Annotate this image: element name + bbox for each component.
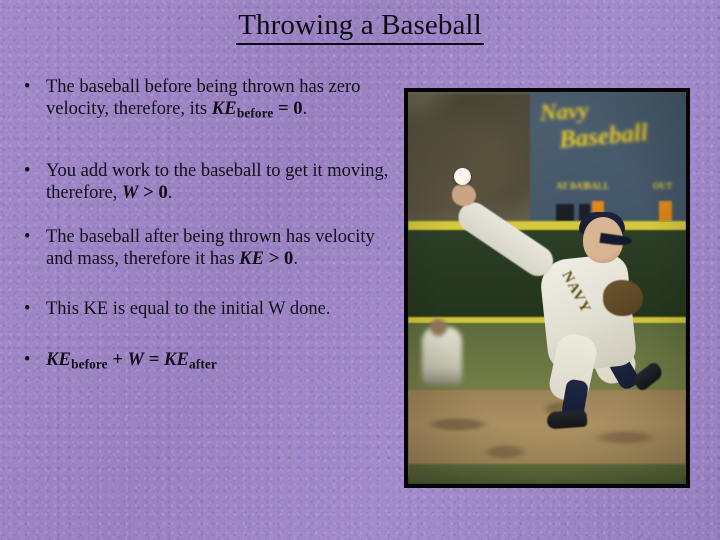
text-segment: .: [303, 99, 308, 119]
equation-ke-plus-w: KEbefore + W = KEafter: [46, 349, 400, 373]
bullet-marker-icon: •: [24, 76, 36, 98]
subscript-after: after: [189, 357, 217, 372]
list-item: • You add work to the baseball to get it…: [14, 160, 400, 204]
subscript-before: before: [71, 357, 108, 372]
bullet-marker-icon: •: [24, 349, 36, 371]
symbol-w: W: [127, 350, 144, 370]
bullet-list: • The baseball before being thrown has z…: [14, 76, 400, 373]
list-item: • KEbefore + W = KEafter: [14, 349, 400, 373]
symbol-ke: KE: [239, 249, 264, 269]
pitcher-photo: Navy Baseball AT BAT BALL OUT: [408, 92, 686, 484]
list-item-text: The baseball after being thrown has velo…: [46, 226, 400, 270]
symbol-ke: KE: [212, 99, 237, 119]
background-player: [422, 327, 462, 385]
scoreboard-line1: Navy: [539, 97, 589, 126]
title-area: Throwing a Baseball: [0, 10, 720, 45]
page-title: Throwing a Baseball: [236, 10, 484, 45]
list-item: • This KE is equal to the initial W done…: [14, 298, 400, 320]
photo-foreground-grass: [408, 464, 686, 484]
text-segment: You add work to the baseball to get it m…: [46, 161, 388, 203]
photo-frame: Navy Baseball AT BAT BALL OUT: [404, 88, 690, 488]
list-item-text: The baseball before being thrown has zer…: [46, 76, 400, 122]
bullet-marker-icon: •: [24, 226, 36, 248]
operator-plus: +: [108, 350, 128, 370]
scoreboard-line2: Baseball: [558, 119, 649, 155]
text-segment: .: [168, 183, 173, 203]
text-segment: The baseball after being thrown has velo…: [46, 227, 375, 269]
slide-canvas: Throwing a Baseball • The baseball befor…: [0, 0, 720, 540]
symbol-w: W: [122, 183, 139, 203]
list-item: • The baseball after being thrown has ve…: [14, 226, 400, 270]
operator-greater-zero: > 0: [264, 249, 293, 269]
symbol-ke: KE: [46, 350, 71, 370]
bullet-marker-icon: •: [24, 298, 36, 320]
photo-dirt-texture: [408, 390, 686, 476]
list-item-text: You add work to the baseball to get it m…: [46, 160, 400, 204]
scoreboard-label-right: OUT: [653, 181, 673, 191]
text-segment: .: [293, 249, 298, 269]
operator-equals: =: [144, 350, 164, 370]
pitcher-front-shoe: [546, 410, 587, 430]
symbol-ke: KE: [164, 350, 189, 370]
pitcher-glove: [603, 280, 643, 316]
operator-greater-zero: > 0: [139, 183, 168, 203]
list-item-text: This KE is equal to the initial W done.: [46, 298, 400, 320]
text-segment: This KE is equal to the initial W done.: [46, 299, 330, 319]
subscript-before: before: [237, 106, 274, 121]
scoreboard-label-mid: BALL: [585, 181, 610, 191]
text-segment: The baseball before being thrown has zer…: [46, 77, 360, 119]
list-item: • The baseball before being thrown has z…: [14, 76, 400, 122]
bullet-marker-icon: •: [24, 160, 36, 182]
photo-wall-stripe-top: [408, 221, 686, 230]
operator-equals-zero: = 0: [273, 99, 302, 119]
scoreboard-label-left: AT BAT: [556, 181, 588, 191]
